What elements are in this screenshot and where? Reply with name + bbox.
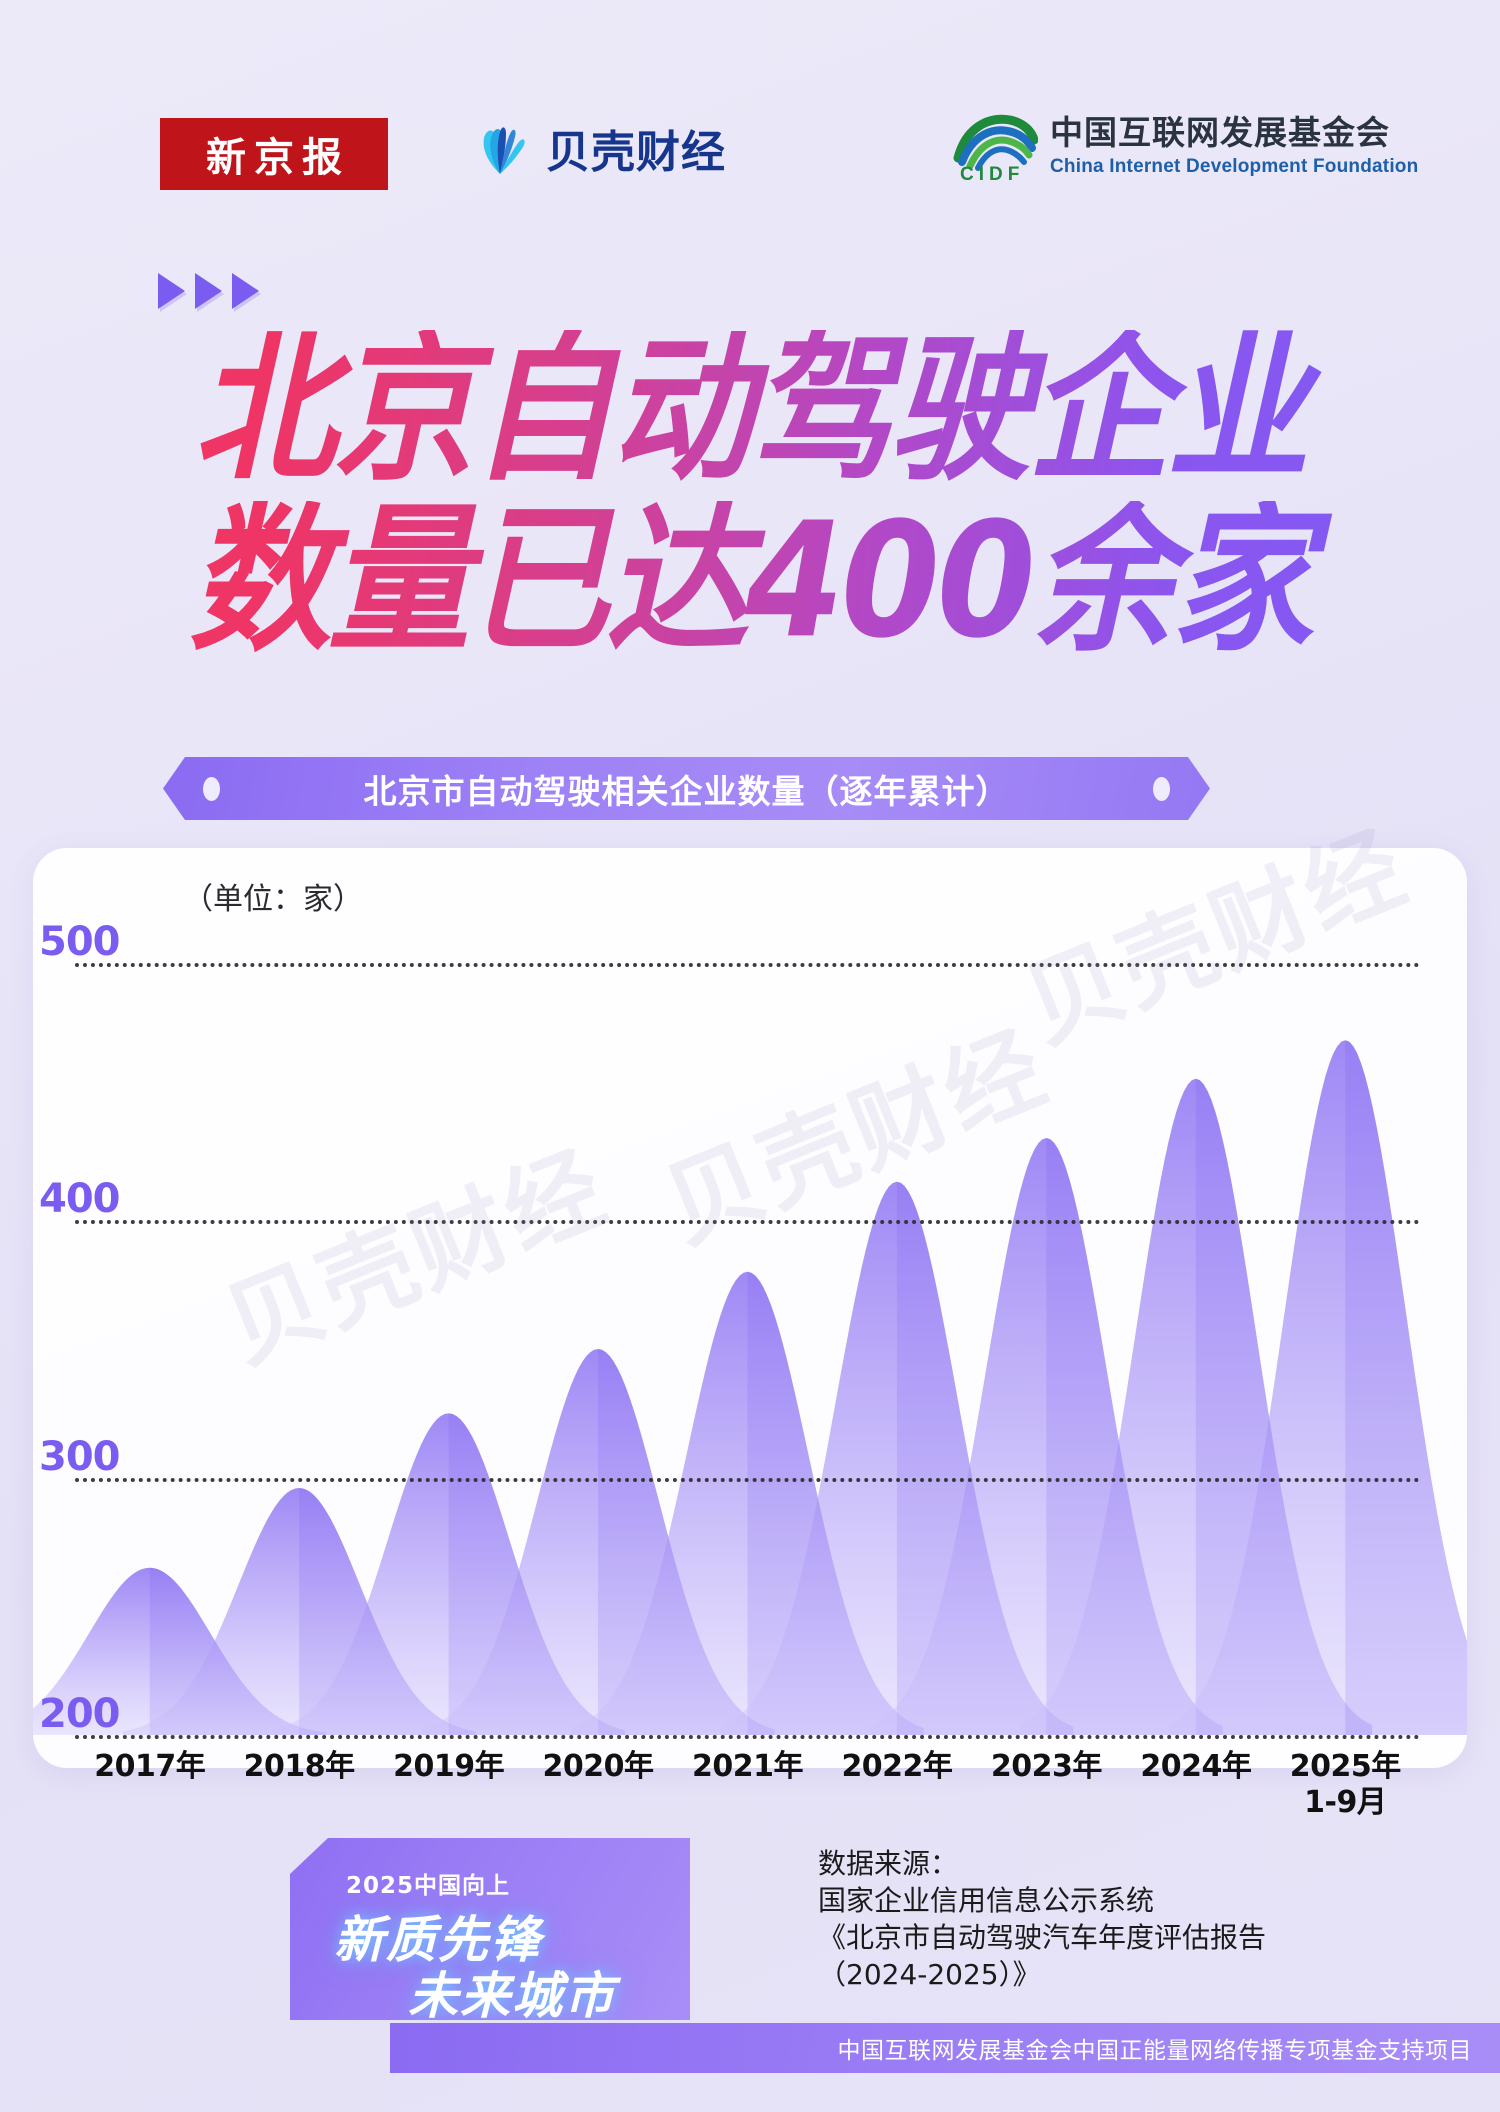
y-axis-tick-label: 400 — [39, 1176, 120, 1222]
data-source-line: 数据来源： — [818, 1846, 1378, 1883]
page-title: 北京自动驾驶企业 数量已达400余家 — [0, 330, 1500, 646]
chart-series-curves — [33, 848, 1467, 1768]
chart-gridline — [75, 963, 1420, 967]
chart-title-text: 北京市自动驾驶相关企业数量（逐年累计） — [364, 765, 1010, 813]
campaign-badge-small-text: 2025中国向上 — [346, 1866, 510, 1900]
chart-card: （单位：家） 200300400500贝壳财经贝壳财经贝壳财经2017年2018… — [33, 848, 1467, 1768]
chart-bell-curve-shade — [1345, 1040, 1467, 1735]
chart-gridline — [75, 1735, 1420, 1739]
data-source-line: 《北京市自动驾驶汽车年度评估报告 — [818, 1920, 1378, 1957]
y-axis-tick-label: 300 — [39, 1434, 120, 1480]
campaign-badge-line-2: 未来城市 — [408, 1956, 616, 2028]
footer-bar: 中国互联网发展基金会中国正能量网络传播专项基金支持项目 — [390, 2023, 1500, 2073]
footer-text: 中国互联网发展基金会中国正能量网络传播专项基金支持项目 — [838, 2031, 1473, 2065]
triangle-right-icon — [232, 273, 259, 309]
header-logo-bar: 新京报 贝壳财经 — [0, 108, 1500, 208]
cidf-abbr-text: CIDF — [960, 164, 1024, 186]
beikecaijing-logo-text: 贝壳财经 — [546, 116, 726, 180]
cidf-english-name: China Internet Development Foundation — [1050, 156, 1418, 178]
x-axis-tick-label: 2025年1-9月 — [1255, 1749, 1435, 1821]
triangle-right-icon — [195, 273, 222, 309]
cidf-arc-icon: CIDF — [952, 110, 1038, 188]
chart-gridline — [75, 1478, 1420, 1482]
beikecaijing-logo: 贝壳财经 — [468, 116, 726, 180]
cidf-chinese-name: 中国互联网发展基金会 — [1050, 116, 1418, 151]
chart-title-ribbon: 北京市自动驾驶相关企业数量（逐年累计） — [163, 757, 1210, 820]
page-title-line-2: 数量已达400余家 — [0, 501, 1500, 663]
xinjingbao-logo: 新京报 — [160, 118, 388, 190]
chart-unit-note: （单位：家） — [183, 874, 363, 918]
triangle-right-icon — [158, 273, 185, 309]
peacock-fan-icon — [468, 116, 532, 180]
data-source-note: 数据来源：国家企业信用信息公示系统《北京市自动驾驶汽车年度评估报告（2024-2… — [818, 1846, 1378, 1994]
cidf-logo: CIDF 中国互联网发展基金会 China Internet Developme… — [952, 110, 1418, 188]
ribbon-rivet-right-icon — [1153, 777, 1170, 801]
decorative-arrows — [158, 273, 259, 309]
chart-plot-area: （单位：家） 200300400500贝壳财经贝壳财经贝壳财经2017年2018… — [33, 848, 1467, 1768]
xinjingbao-logo-text: 新京报 — [198, 125, 350, 183]
y-axis-tick-label: 200 — [39, 1691, 120, 1737]
y-axis-tick-label: 500 — [39, 919, 120, 965]
campaign-badge: 2025中国向上 新质先锋 未来城市 — [290, 1838, 690, 2020]
page-title-line-1: 北京自动驾驶企业 — [0, 330, 1500, 492]
data-source-line: 国家企业信用信息公示系统 — [818, 1883, 1378, 1920]
data-source-line: （2024-2025）》 — [818, 1957, 1378, 1994]
ribbon-rivet-left-icon — [203, 777, 220, 801]
chart-gridline — [75, 1220, 1420, 1224]
